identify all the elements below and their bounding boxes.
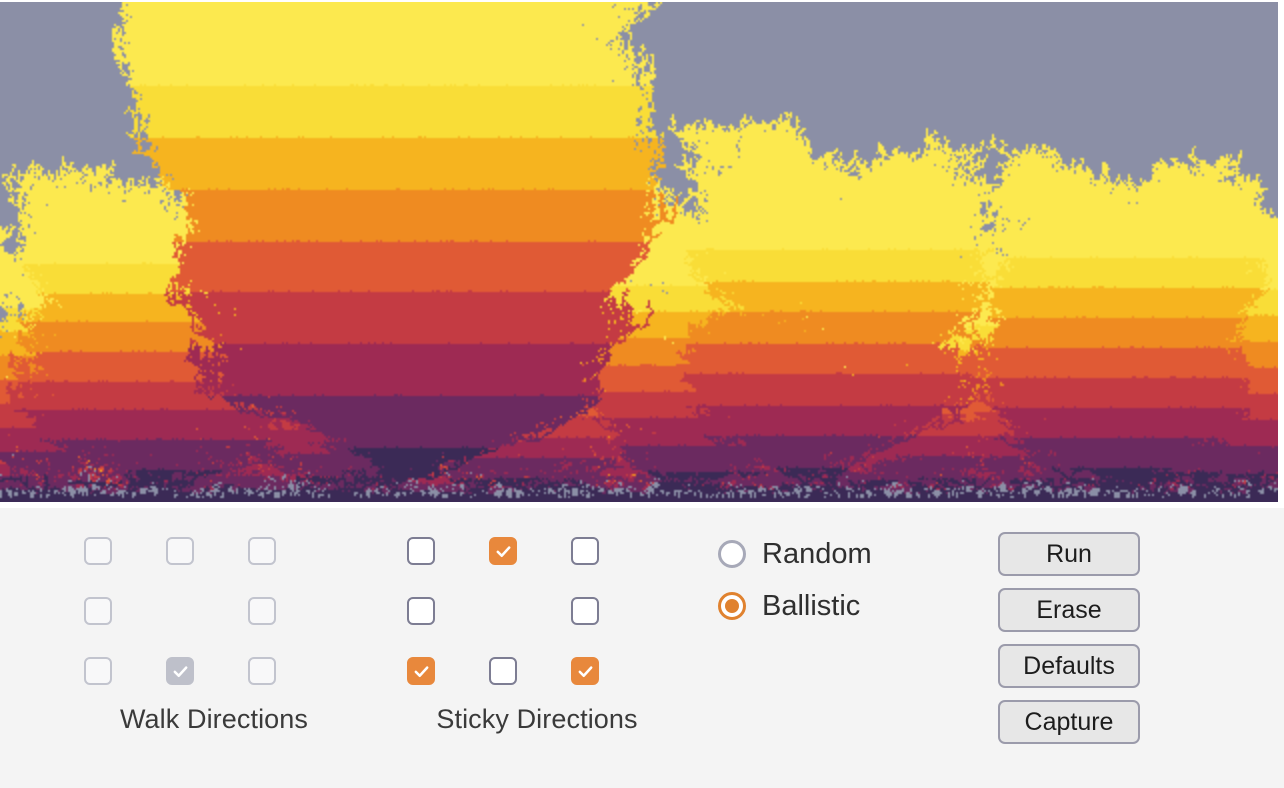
check-icon	[577, 663, 594, 680]
walk-direction-slot-southeast	[248, 657, 278, 687]
walk-direction-slot-center	[166, 597, 196, 627]
sticky-direction-checkbox-south[interactable]	[489, 657, 517, 685]
sticky-direction-slot-north	[489, 537, 519, 567]
sticky-direction-checkbox-southeast[interactable]	[571, 657, 599, 685]
sticky-direction-slot-southeast	[571, 657, 601, 687]
controls-panel: Walk Directions Sticky Directions Random…	[0, 508, 1284, 788]
sticky-direction-checkbox-northeast[interactable]	[571, 537, 599, 565]
check-icon	[413, 663, 430, 680]
sticky-directions-label: Sticky Directions	[373, 704, 701, 735]
walk-direction-slot-west	[84, 597, 114, 627]
check-icon	[495, 543, 512, 560]
action-button-stack: RunEraseDefaultsCapture	[998, 532, 1140, 744]
sticky-direction-checkbox-northwest[interactable]	[407, 537, 435, 565]
walk-mode-option-ballistic[interactable]: Ballistic	[718, 580, 872, 632]
erase-button[interactable]: Erase	[998, 588, 1140, 632]
walk-mode-label-ballistic: Ballistic	[762, 590, 860, 623]
sticky-direction-checkbox-north[interactable]	[489, 537, 517, 565]
walk-direction-slot-northwest	[84, 537, 114, 567]
radio-ballistic-icon[interactable]	[718, 592, 746, 620]
walk-direction-slot-southwest	[84, 657, 114, 687]
walk-directions-grid	[58, 522, 378, 702]
walk-direction-slot-northeast	[248, 537, 278, 567]
walk-directions-group: Walk Directions	[58, 522, 378, 735]
sticky-direction-slot-south	[489, 657, 519, 687]
sticky-direction-slot-center	[489, 597, 519, 627]
capture-button[interactable]: Capture	[998, 700, 1140, 744]
walk-direction-slot-north	[166, 537, 196, 567]
walk-direction-checkbox-northwest[interactable]	[84, 537, 112, 565]
walk-direction-checkbox-northeast[interactable]	[248, 537, 276, 565]
check-icon	[172, 663, 189, 680]
walk-direction-checkbox-east[interactable]	[248, 597, 276, 625]
run-button[interactable]: Run	[998, 532, 1140, 576]
sticky-direction-slot-northeast	[571, 537, 601, 567]
walk-mode-option-random[interactable]: Random	[718, 528, 872, 580]
walk-directions-label: Walk Directions	[50, 704, 378, 735]
sticky-direction-checkbox-southwest[interactable]	[407, 657, 435, 685]
sticky-direction-checkbox-east[interactable]	[571, 597, 599, 625]
walk-direction-slot-south	[166, 657, 196, 687]
walk-mode-radio-group: RandomBallistic	[718, 528, 872, 632]
sticky-directions-group: Sticky Directions	[381, 522, 701, 735]
walk-mode-label-random: Random	[762, 538, 872, 571]
sticky-direction-slot-southwest	[407, 657, 437, 687]
walk-direction-checkbox-north[interactable]	[166, 537, 194, 565]
sticky-direction-slot-northwest	[407, 537, 437, 567]
walk-direction-checkbox-southwest[interactable]	[84, 657, 112, 685]
sticky-directions-grid	[381, 522, 701, 702]
radio-dot	[725, 599, 739, 613]
defaults-button[interactable]: Defaults	[998, 644, 1140, 688]
sticky-direction-checkbox-west[interactable]	[407, 597, 435, 625]
sticky-direction-slot-west	[407, 597, 437, 627]
sticky-direction-slot-east	[571, 597, 601, 627]
walk-direction-checkbox-south[interactable]	[166, 657, 194, 685]
application-window: Walk Directions Sticky Directions Random…	[0, 0, 1284, 788]
walk-direction-checkbox-southeast[interactable]	[248, 657, 276, 685]
walk-direction-checkbox-west[interactable]	[84, 597, 112, 625]
walk-direction-slot-east	[248, 597, 278, 627]
simulation-viewport	[0, 0, 1284, 508]
radio-random-icon[interactable]	[718, 540, 746, 568]
dla-simulation-canvas[interactable]	[0, 2, 1278, 502]
